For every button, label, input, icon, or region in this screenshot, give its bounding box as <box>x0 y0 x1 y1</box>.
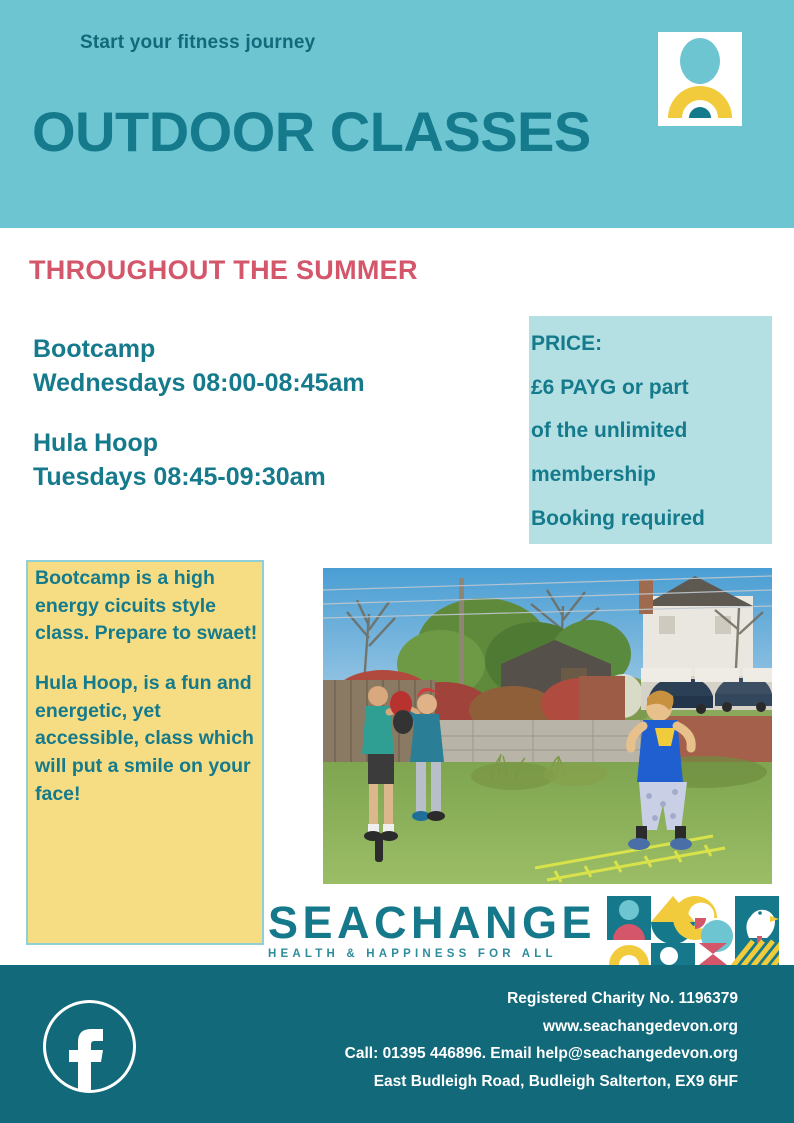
class-item-bootcamp: Bootcamp Wednesdays 08:00-08:45am <box>33 332 365 400</box>
price-line: £6 PAYG or part <box>531 366 791 410</box>
class-time: Wednesdays 08:00-08:45am <box>33 366 365 400</box>
footer-line: Registered Charity No. 1196379 <box>345 985 738 1013</box>
class-schedule-list: Bootcamp Wednesdays 08:00-08:45am Hula H… <box>33 332 365 494</box>
price-line: PRICE: <box>531 322 791 366</box>
footer-line: East Budleigh Road, Budleigh Salterton, … <box>345 1068 738 1096</box>
header-kicker: Start your fitness journey <box>80 32 315 54</box>
section-heading: THROUGHOUT THE SUMMER <box>29 255 418 286</box>
page-title: OUTDOOR CLASSES <box>32 104 591 160</box>
class-name: Bootcamp <box>33 332 365 366</box>
seachange-wordmark: SEACHANGE HEALTH & HAPPINESS FOR ALL <box>268 900 596 961</box>
class-time: Tuesdays 08:45-09:30am <box>33 460 365 494</box>
seachange-geometric-pattern <box>607 896 779 965</box>
facebook-icon[interactable] <box>42 999 137 1094</box>
class-name: Hula Hoop <box>33 426 365 460</box>
brand-name: SEACHANGE <box>268 900 596 945</box>
footer-line[interactable]: www.seachangedevon.org <box>345 1013 738 1041</box>
price-box-text: PRICE: £6 PAYG or part of the unlimited … <box>531 322 791 540</box>
poster-canvas: Start your fitness journey OUTDOOR CLASS… <box>0 0 794 1123</box>
footer-contact-details: Registered Charity No. 1196379 www.seach… <box>345 985 738 1095</box>
description-text: Bootcamp is a high energy cicuits style … <box>35 565 267 809</box>
class-item-hula-hoop: Hula Hoop Tuesdays 08:45-09:30am <box>33 426 365 494</box>
brand-tagline: HEALTH & HAPPINESS FOR ALL <box>268 949 596 961</box>
description-paragraph: Bootcamp is a high energy cicuits style … <box>35 565 267 648</box>
class-photo <box>323 568 772 884</box>
description-paragraph: Hula Hoop, is a fun and energetic, yet a… <box>35 670 267 808</box>
logo-head-circle <box>680 38 720 84</box>
seachange-person-logo <box>658 32 742 126</box>
price-line: membership <box>531 453 791 497</box>
price-line: Booking required <box>531 497 791 541</box>
footer-line[interactable]: Call: 01395 446896. Email help@seachange… <box>345 1040 738 1068</box>
price-line: of the unlimited <box>531 409 791 453</box>
